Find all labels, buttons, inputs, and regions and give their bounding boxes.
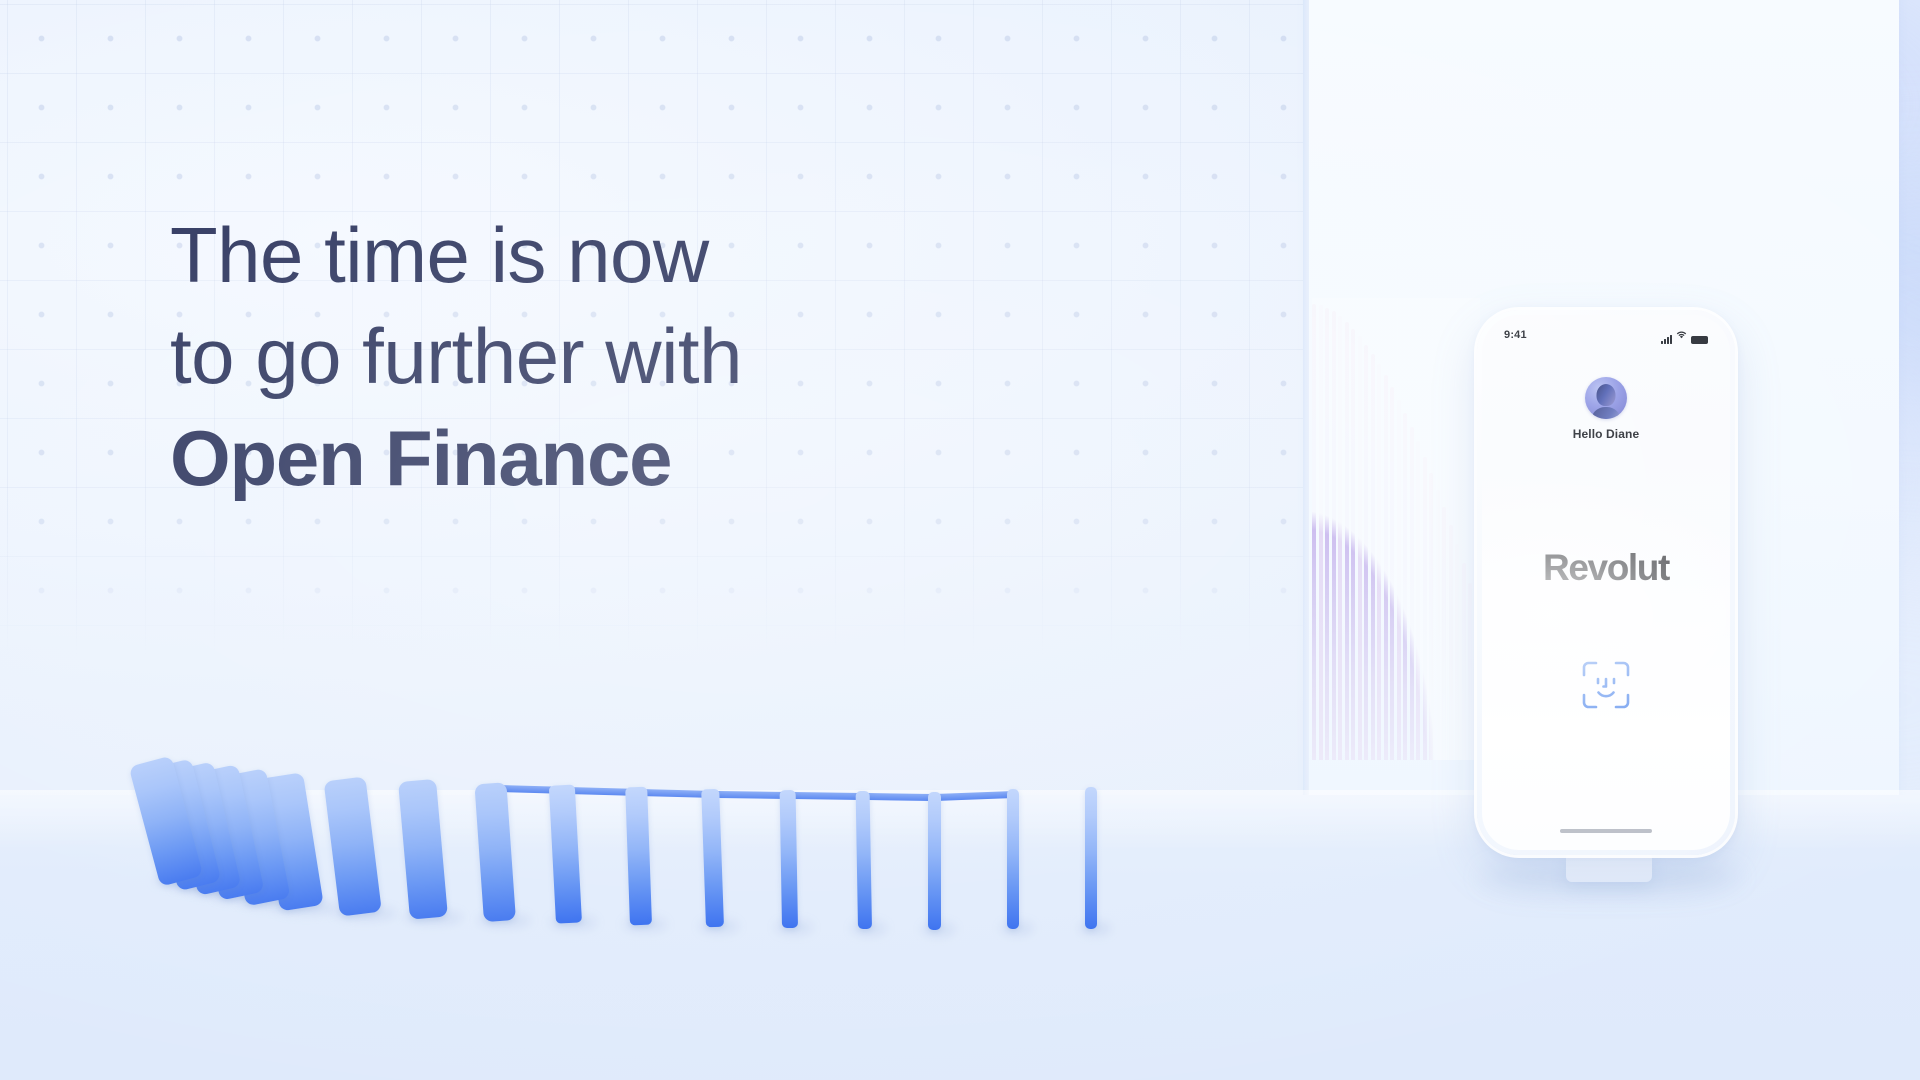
headline-line-1: The time is now [170, 205, 1270, 306]
avatar-body [1591, 407, 1621, 419]
revolut-wordmark: Revolut [1482, 547, 1730, 589]
headline-line-2: to go further with [170, 306, 1270, 407]
domino-rail [790, 792, 865, 800]
domino-tile [928, 792, 941, 930]
user-avatar [1585, 377, 1627, 419]
status-time: 9:41 [1504, 329, 1527, 341]
domino-tile [474, 782, 516, 922]
greeting-label: Hello Diane [1482, 427, 1730, 441]
domino-tile [701, 789, 724, 928]
phone-mockup: 9:41 [1477, 310, 1735, 855]
cellular-signal-icon [1661, 335, 1672, 344]
domino-tile [549, 785, 582, 924]
status-bar: 9:41 [1482, 325, 1730, 345]
domino-tile [625, 787, 652, 926]
wifi-icon [1676, 326, 1687, 344]
home-indicator [1560, 829, 1652, 833]
phone-screen: 9:41 [1482, 315, 1730, 850]
page-title: The time is now to go further with Open … [170, 205, 1270, 509]
domino-tile [856, 791, 872, 929]
avatar-head [1597, 384, 1616, 406]
domino-tile [324, 776, 382, 916]
domino-tile [398, 779, 448, 920]
face-id-icon[interactable] [1581, 660, 1631, 710]
domino-rail [934, 791, 1013, 801]
domino-tile [1007, 789, 1019, 929]
domino-tile [1085, 787, 1097, 929]
hero-scene: The time is now to go further with Open … [0, 0, 1920, 1080]
phone-stand [1566, 852, 1652, 882]
domino-rail [865, 793, 935, 801]
headline-line-3: Open Finance [170, 408, 1270, 509]
status-icons [1661, 326, 1708, 344]
battery-icon [1691, 336, 1708, 344]
domino-tile [780, 790, 798, 928]
phone-screen-glare [1482, 465, 1730, 765]
